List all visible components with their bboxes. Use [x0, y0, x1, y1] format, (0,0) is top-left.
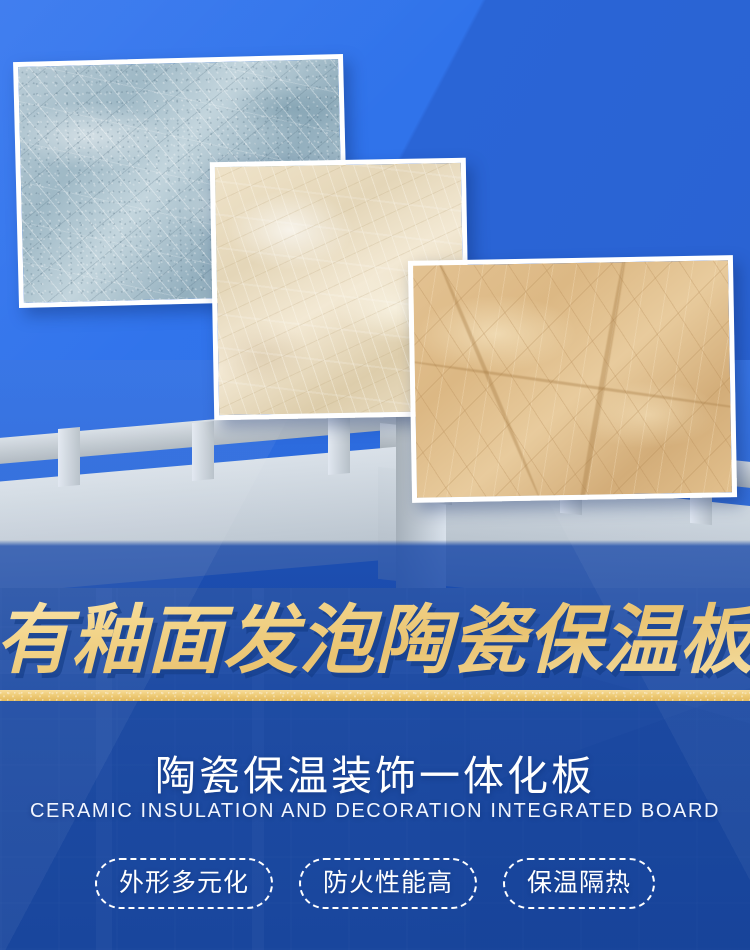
- tile-sample-3: [408, 255, 737, 503]
- feature-pill-3[interactable]: 保温隔热: [503, 858, 655, 909]
- headline-block: 有釉面发泡陶瓷保温板: [0, 586, 750, 680]
- subtitle-english: CERAMIC INSULATION AND DECORATION INTEGR…: [0, 800, 750, 823]
- feature-pill-2[interactable]: 防火性能高: [299, 858, 477, 909]
- subtitle-chinese: 陶瓷保温装饰一体化板: [0, 742, 750, 802]
- product-banner: 有釉面发泡陶瓷保温板 陶瓷保温装饰一体化板 CERAMIC INSULATION…: [0, 0, 750, 950]
- marble-veins: [413, 260, 732, 497]
- tile-texture-tan: [413, 260, 732, 497]
- gold-divider-bar: [0, 690, 750, 701]
- feature-pill-row: 外形多元化 防火性能高 保温隔热: [0, 858, 750, 909]
- headline-title: 有釉面发泡陶瓷保温板: [0, 579, 750, 688]
- feature-pill-1[interactable]: 外形多元化: [95, 858, 273, 909]
